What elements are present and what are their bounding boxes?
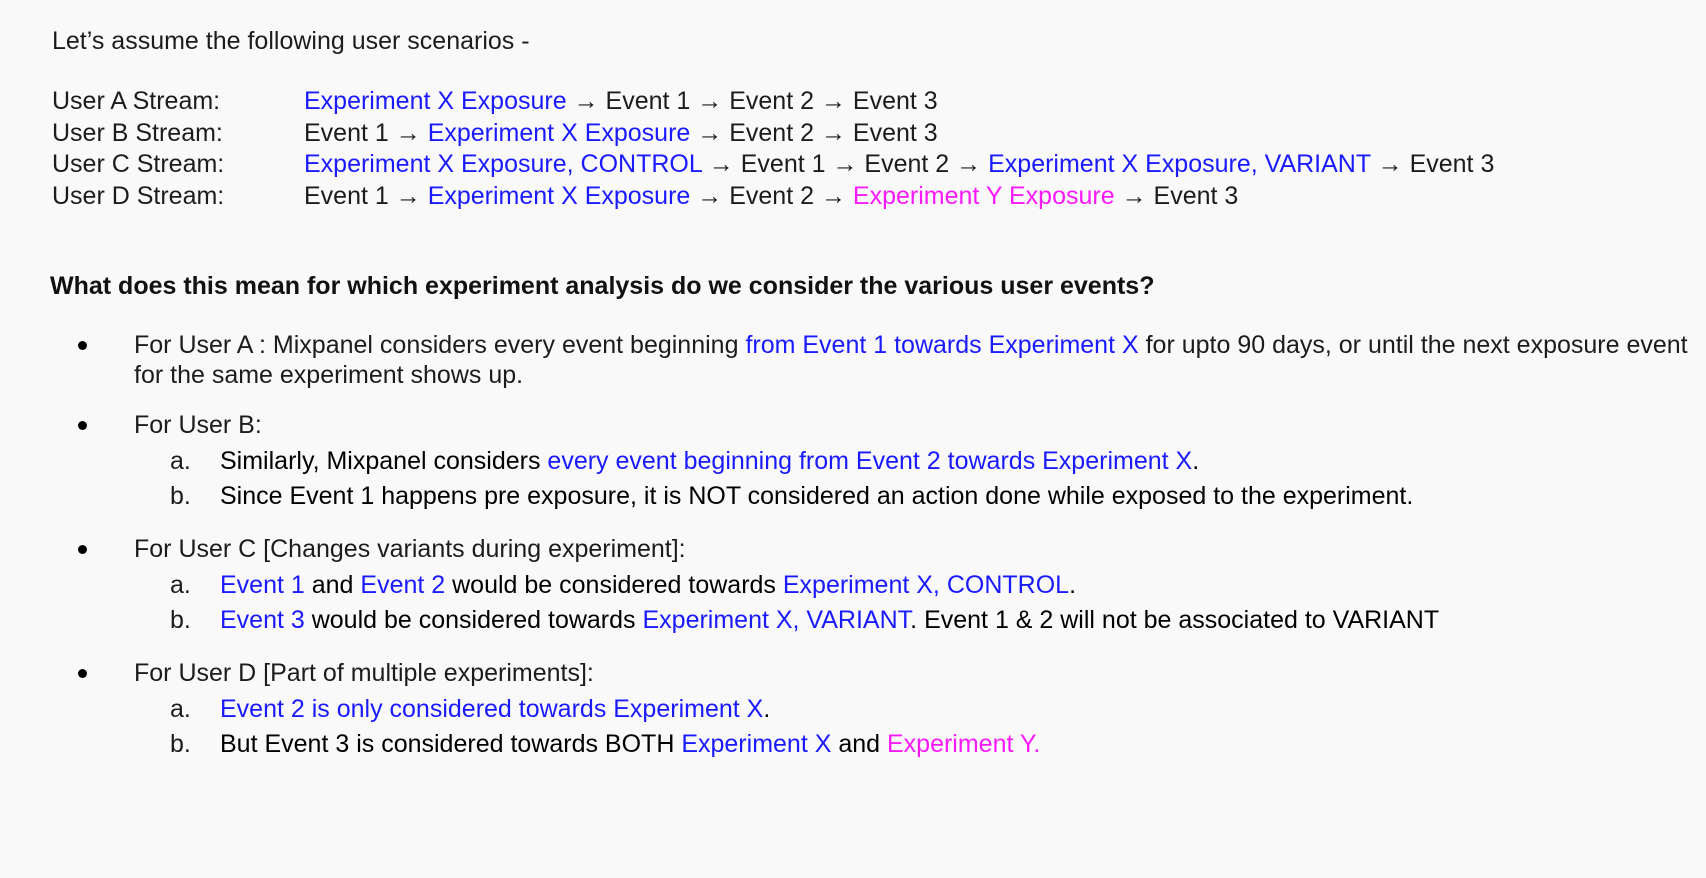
sub-user-b-0-segment-2: . <box>1192 447 1199 475</box>
bullet-user-a-segment-1: from Event 1 towards Experiment X <box>745 331 1138 359</box>
sub-user-c-1-segment-2: Experiment X, VARIANT <box>642 606 910 634</box>
sub-user-d-1-segment-0: But Event 3 is considered towards BOTH <box>220 730 681 758</box>
sub-list-user-c: a.Event 1 and Event 2 would be considere… <box>52 568 1692 638</box>
sub-user-b-0-segment-1: every event beginning from Event 2 towar… <box>547 447 1192 475</box>
stream-sequence-2: Experiment X Exposure, CONTROL → Event 1… <box>304 149 1494 181</box>
stream-2-segment-2: Event 1 <box>741 150 826 178</box>
bullet-head-user-b: For User B: <box>52 410 1692 440</box>
stream-1-segment-3: → <box>690 119 729 147</box>
stream-0-segment-4: Event 2 <box>729 87 814 115</box>
stream-3-segment-6: Experiment Y Exposure <box>853 182 1115 210</box>
bullet-block-user-a: For User A : Mixpanel considers every ev… <box>52 330 1692 390</box>
sub-item-text: But Event 3 is considered towards BOTH E… <box>220 730 1040 758</box>
sub-user-d-0-segment-0: Event 2 is only considered towards Exper… <box>220 695 763 723</box>
sub-user-d-1-segment-2: and <box>831 730 887 758</box>
bullet-dot-icon <box>78 341 87 350</box>
sub-list-user-d: a.Event 2 is only considered towards Exp… <box>52 692 1692 762</box>
stream-label-2: User C Stream: <box>52 149 304 181</box>
stream-2-segment-3: → <box>826 150 865 178</box>
stream-3-segment-4: Event 2 <box>729 182 814 210</box>
stream-2-segment-6: Experiment X Exposure, VARIANT <box>988 150 1371 178</box>
bullet-user-a-segment-0: For User A : Mixpanel considers every ev… <box>134 331 745 359</box>
bullet-dot-icon <box>78 669 87 678</box>
stream-3-segment-5: → <box>814 182 853 210</box>
sub-user-c-1-segment-3: . Event 1 & 2 will not be associated to … <box>910 606 1439 634</box>
sub-user-d-1-segment-1: Experiment X <box>681 730 831 758</box>
stream-1-segment-6: Event 3 <box>853 119 938 147</box>
sub-item-text: Event 1 and Event 2 would be considered … <box>220 571 1076 599</box>
stream-label-1: User B Stream: <box>52 118 304 150</box>
sub-item-user-b-a: a.Similarly, Mixpanel considers every ev… <box>52 444 1692 479</box>
sub-item-text: Event 2 is only considered towards Exper… <box>220 695 770 723</box>
sub-user-d-1-segment-3: Experiment Y. <box>887 730 1040 758</box>
stream-row: User A Stream:Experiment X Exposure → Ev… <box>52 86 1494 118</box>
sub-item-user-d-a: a.Event 2 is only considered towards Exp… <box>52 692 1692 727</box>
sub-item-marker: b. <box>170 479 210 514</box>
analysis-bullet-list: For User A : Mixpanel considers every ev… <box>52 330 1692 782</box>
stream-2-segment-8: Event 3 <box>1410 150 1495 178</box>
document-page: Let’s assume the following user scenario… <box>0 0 1706 878</box>
stream-0-segment-2: Event 1 <box>606 87 691 115</box>
stream-row: User B Stream:Event 1 → Experiment X Exp… <box>52 118 1494 150</box>
sub-list-user-b: a.Similarly, Mixpanel considers every ev… <box>52 444 1692 514</box>
stream-0-segment-0: Experiment X Exposure <box>304 87 567 115</box>
sub-user-c-0-segment-3: would be considered towards <box>445 571 783 599</box>
sub-item-marker: b. <box>170 727 210 762</box>
bullet-user-b-segment-0: For User B: <box>134 411 262 439</box>
stream-1-segment-2: Experiment X Exposure <box>428 119 691 147</box>
stream-0-segment-3: → <box>690 87 729 115</box>
stream-sequence-0: Experiment X Exposure → Event 1 → Event … <box>304 86 938 118</box>
bullet-text-user-c: For User C [Changes variants during expe… <box>134 535 686 563</box>
stream-2-segment-7: → <box>1371 150 1410 178</box>
stream-1-segment-5: → <box>814 119 853 147</box>
stream-3-segment-2: Experiment X Exposure <box>428 182 691 210</box>
bullet-block-user-b: For User B:a.Similarly, Mixpanel conside… <box>52 410 1692 514</box>
sub-user-c-0-segment-0: Event 1 <box>220 571 305 599</box>
stream-3-segment-0: Event 1 <box>304 182 389 210</box>
stream-3-segment-3: → <box>690 182 729 210</box>
bullet-head-user-a: For User A : Mixpanel considers every ev… <box>52 330 1692 390</box>
stream-2-segment-4: Event 2 <box>864 150 949 178</box>
user-streams-list: User A Stream:Experiment X Exposure → Ev… <box>52 86 1494 212</box>
sub-item-user-c-a: a.Event 1 and Event 2 would be considere… <box>52 568 1692 603</box>
bullet-dot-icon <box>78 421 87 430</box>
sub-item-user-c-b: b.Event 3 would be considered towards Ex… <box>52 603 1692 638</box>
sub-item-marker: a. <box>170 444 210 479</box>
question-heading: What does this mean for which experiment… <box>50 272 1154 301</box>
stream-label-3: User D Stream: <box>52 181 304 213</box>
sub-user-c-1-segment-1: would be considered towards <box>305 606 643 634</box>
stream-2-segment-0: Experiment X Exposure, CONTROL <box>304 150 702 178</box>
sub-user-c-0-segment-1: and <box>305 571 361 599</box>
sub-item-marker: a. <box>170 568 210 603</box>
sub-item-user-b-b: b.Since Event 1 happens pre exposure, it… <box>52 479 1692 514</box>
bullet-text-user-d: For User D [Part of multiple experiments… <box>134 659 594 687</box>
bullet-head-user-d: For User D [Part of multiple experiments… <box>52 658 1692 688</box>
bullet-user-d-segment-0: For User D [Part of multiple experiments… <box>134 659 594 687</box>
stream-0-segment-1: → <box>567 87 606 115</box>
sub-user-c-0-segment-5: . <box>1069 571 1076 599</box>
stream-1-segment-0: Event 1 <box>304 119 389 147</box>
sub-item-text: Since Event 1 happens pre exposure, it i… <box>220 482 1413 510</box>
sub-item-text: Event 3 would be considered towards Expe… <box>220 606 1439 634</box>
bullet-text-user-a: For User A : Mixpanel considers every ev… <box>134 331 1688 389</box>
stream-2-segment-1: → <box>702 150 741 178</box>
sub-item-text: Similarly, Mixpanel considers every even… <box>220 447 1199 475</box>
sub-user-c-0-segment-4: Experiment X, CONTROL <box>783 571 1069 599</box>
sub-item-marker: a. <box>170 692 210 727</box>
stream-3-segment-7: → <box>1115 182 1154 210</box>
stream-sequence-3: Event 1 → Experiment X Exposure → Event … <box>304 181 1238 213</box>
stream-row: User C Stream:Experiment X Exposure, CON… <box>52 149 1494 181</box>
stream-label-0: User A Stream: <box>52 86 304 118</box>
sub-user-c-0-segment-2: Event 2 <box>360 571 445 599</box>
sub-user-b-0-segment-0: Similarly, Mixpanel considers <box>220 447 547 475</box>
sub-user-d-0-segment-1: . <box>763 695 770 723</box>
stream-0-segment-6: Event 3 <box>853 87 938 115</box>
stream-row: User D Stream:Event 1 → Experiment X Exp… <box>52 181 1494 213</box>
stream-0-segment-5: → <box>814 87 853 115</box>
bullet-dot-icon <box>78 545 87 554</box>
sub-item-marker: b. <box>170 603 210 638</box>
bullet-head-user-c: For User C [Changes variants during expe… <box>52 534 1692 564</box>
bullet-user-c-segment-0: For User C [Changes variants during expe… <box>134 535 686 563</box>
bullet-block-user-c: For User C [Changes variants during expe… <box>52 534 1692 638</box>
stream-1-segment-1: → <box>389 119 428 147</box>
bullet-text-user-b: For User B: <box>134 411 262 439</box>
sub-item-user-d-b: b.But Event 3 is considered towards BOTH… <box>52 727 1692 762</box>
sub-user-b-1-segment-0: Since Event 1 happens pre exposure, it i… <box>220 482 1413 510</box>
intro-line: Let’s assume the following user scenario… <box>52 24 530 58</box>
stream-sequence-1: Event 1 → Experiment X Exposure → Event … <box>304 118 938 150</box>
stream-3-segment-8: Event 3 <box>1154 182 1239 210</box>
bullet-block-user-d: For User D [Part of multiple experiments… <box>52 658 1692 762</box>
stream-3-segment-1: → <box>389 182 428 210</box>
stream-2-segment-5: → <box>949 150 988 178</box>
stream-1-segment-4: Event 2 <box>729 119 814 147</box>
sub-user-c-1-segment-0: Event 3 <box>220 606 305 634</box>
